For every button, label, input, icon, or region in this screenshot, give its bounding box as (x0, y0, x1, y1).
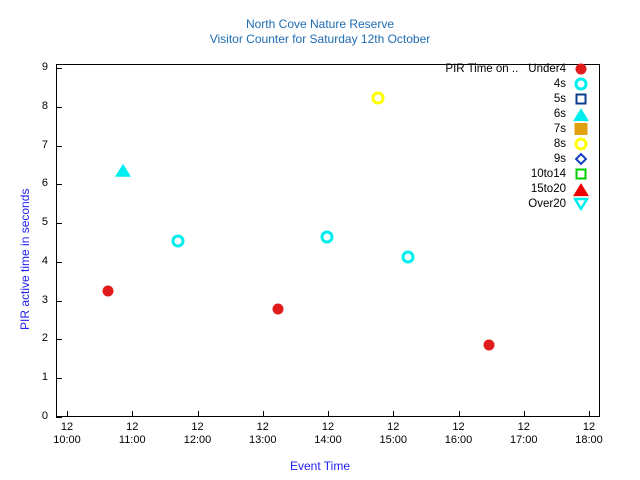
y-tick-mark (56, 378, 62, 379)
chart-title-line2: Visitor Counter for Saturday 12th Octobe… (0, 32, 640, 47)
x-tick-label-time: 11:00 (97, 434, 167, 447)
x-tick-mark (524, 411, 525, 417)
legend-key-under4[interactable] (566, 62, 596, 77)
y-tick-mark (56, 262, 62, 263)
legend-key-6s[interactable] (566, 107, 596, 122)
legend-label-15to20: 15to20 (531, 182, 566, 197)
legend-label-9s: 9s (554, 152, 566, 167)
x-tick-label-day: 12 (358, 421, 428, 434)
x-tick-mark (393, 411, 394, 417)
x-tick-label-time: 16:00 (424, 434, 494, 447)
y-tick-label: 1 (8, 372, 48, 383)
x-tick-label-time: 10:00 (32, 434, 102, 447)
y-tick-label: 8 (8, 101, 48, 112)
legend-key-8s[interactable] (566, 137, 596, 152)
y-tick-mark (56, 339, 62, 340)
legend-row[interactable]: Over20 (300, 197, 596, 212)
legend-key-7s[interactable] (566, 122, 596, 137)
x-tick-label: 1211:00 (97, 421, 167, 447)
x-tick-label-day: 12 (97, 421, 167, 434)
legend-row[interactable]: 8s (300, 137, 596, 152)
legend-row[interactable]: 4s (300, 77, 596, 92)
x-tick-label-day: 12 (163, 421, 233, 434)
legend-row[interactable]: 15to20 (300, 182, 596, 197)
x-tick-label: 1218:00 (554, 421, 624, 447)
x-tick-label: 1214:00 (293, 421, 363, 447)
legend-row[interactable]: 7s (300, 122, 596, 137)
x-tick-label: 1217:00 (489, 421, 559, 447)
x-tick-label-day: 12 (489, 421, 559, 434)
x-axis-title: Event Time (0, 459, 640, 473)
x-tick-label-time: 18:00 (554, 434, 624, 447)
y-tick-mark (56, 68, 62, 69)
legend-label-6s: 6s (554, 107, 566, 122)
x-tick-label-day: 12 (424, 421, 494, 434)
y-tick-mark (56, 417, 62, 418)
legend-label-over20: Over20 (528, 197, 566, 212)
y-tick-mark (56, 107, 62, 108)
data-point-under4[interactable] (272, 303, 283, 314)
legend-row[interactable]: 9s (300, 152, 596, 167)
data-point-4s[interactable] (321, 231, 334, 244)
x-tick-mark (198, 411, 199, 417)
x-tick-label: 1212:00 (163, 421, 233, 447)
data-point-4s[interactable] (402, 250, 415, 263)
legend-key-10to14[interactable] (566, 167, 596, 182)
y-tick-mark (56, 301, 62, 302)
y-tick-mark (56, 223, 62, 224)
x-tick-label-day: 12 (554, 421, 624, 434)
x-tick-label-day: 12 (293, 421, 363, 434)
legend: PIR Time on ..Under44s5s6s7s8s9s10to1415… (300, 62, 596, 212)
legend-label-10to14: 10to14 (531, 167, 566, 182)
legend-key-15to20[interactable] (566, 182, 596, 197)
y-tick-mark (56, 184, 62, 185)
legend-key-4s[interactable] (566, 77, 596, 92)
x-tick-mark (263, 411, 264, 417)
data-point-under4[interactable] (484, 339, 495, 350)
legend-key-5s[interactable] (566, 92, 596, 107)
x-tick-label: 1210:00 (32, 421, 102, 447)
y-tick-label: 2 (8, 333, 48, 344)
legend-key-9s[interactable] (566, 152, 596, 167)
x-tick-label-time: 12:00 (163, 434, 233, 447)
chart-title-line1: North Cove Nature Reserve (0, 17, 640, 32)
data-point-6s[interactable] (115, 164, 131, 177)
x-tick-label: 1216:00 (424, 421, 494, 447)
legend-row[interactable]: 6s (300, 107, 596, 122)
x-tick-label-time: 13:00 (228, 434, 298, 447)
x-tick-mark (589, 411, 590, 417)
x-tick-label-day: 12 (32, 421, 102, 434)
x-tick-mark (328, 411, 329, 417)
data-point-under4[interactable] (103, 286, 114, 297)
x-tick-label-day: 12 (228, 421, 298, 434)
legend-row[interactable]: 10to14 (300, 167, 596, 182)
data-point-4s[interactable] (171, 234, 184, 247)
y-tick-label: 9 (8, 62, 48, 73)
x-tick-mark (67, 411, 68, 417)
scatter-chart: North Cove Nature Reserve Visitor Counte… (0, 0, 640, 480)
x-tick-label: 1215:00 (358, 421, 428, 447)
legend-title: PIR Time on .. (445, 62, 518, 77)
y-tick-mark (56, 146, 62, 147)
x-tick-mark (132, 411, 133, 417)
y-tick-label: 7 (8, 140, 48, 151)
legend-label-7s: 7s (554, 122, 566, 137)
legend-row[interactable]: PIR Time on ..Under4 (300, 62, 596, 77)
x-tick-label-time: 14:00 (293, 434, 363, 447)
x-tick-label-time: 17:00 (489, 434, 559, 447)
legend-key-over20[interactable] (566, 197, 596, 212)
legend-row[interactable]: 5s (300, 92, 596, 107)
legend-label-8s: 8s (554, 137, 566, 152)
x-tick-label: 1213:00 (228, 421, 298, 447)
x-tick-label-time: 15:00 (358, 434, 428, 447)
legend-label-4s: 4s (554, 77, 566, 92)
legend-label-5s: 5s (554, 92, 566, 107)
x-tick-mark (459, 411, 460, 417)
legend-label-under4: Under4 (528, 62, 566, 77)
y-axis-title: PIR active time in seconds (18, 189, 32, 330)
